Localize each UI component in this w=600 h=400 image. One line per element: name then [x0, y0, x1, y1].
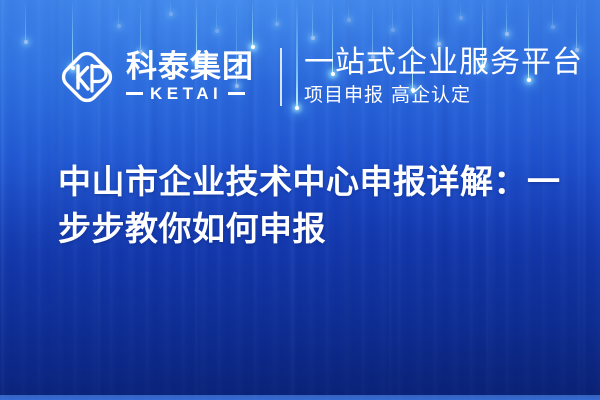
vertical-divider-icon [280, 48, 282, 106]
ketai-kp-monogram-icon [58, 48, 116, 106]
meteor-streak-icon [348, 0, 349, 20]
meteor-streak-icon [506, 0, 507, 34]
page-title-line-1: 中山市企业技术中心申报详解：一 [58, 158, 558, 205]
meteor-streak-icon [392, 0, 393, 30]
meteor-streak-icon [170, 0, 171, 14]
bottom-accent-strip [0, 395, 600, 400]
company-name-en: KETAI [150, 85, 222, 103]
meteor-streak-icon [552, 0, 553, 27]
slogan-primary: 一站式企业服务平台 [304, 46, 583, 80]
meteor-streak-icon [276, 0, 277, 24]
company-name-en-row: KETAI [126, 85, 254, 103]
page-title: 中山市企业技术中心申报详解：一 步步教你如何申报 [58, 158, 558, 252]
slogan-secondary: 项目申报 高企认定 [304, 83, 583, 107]
ketai-logo[interactable]: 科泰集团 KETAI [58, 48, 254, 106]
wordmark-right-dash-icon [228, 92, 245, 95]
promo-banner: 科泰集团 KETAI 一站式企业服务平台 项目申报 高企认定 中山市企业技术中心… [0, 0, 600, 400]
page-title-line-2: 步步教你如何申报 [58, 205, 558, 252]
banner-header: 科泰集团 KETAI 一站式企业服务平台 项目申报 高企认定 [58, 46, 583, 107]
slogan-block: 一站式企业服务平台 项目申报 高企认定 [304, 46, 583, 107]
wordmark-left-dash-icon [126, 92, 143, 95]
meteor-streak-icon [216, 0, 217, 31]
meteor-streak-icon [25, 0, 26, 42]
meteor-streak-icon [576, 0, 577, 50]
meteor-streak-icon [460, 0, 461, 18]
meteor-streak-icon [140, 0, 141, 52]
company-name-cn: 科泰集团 [126, 51, 254, 83]
meteor-streak-icon [312, 0, 313, 38]
meteor-streak-icon [118, 0, 119, 26]
meteor-streak-icon [438, 0, 439, 44]
ketai-wordmark: 科泰集团 KETAI [126, 51, 254, 103]
meteor-streak-icon [252, 0, 253, 47]
